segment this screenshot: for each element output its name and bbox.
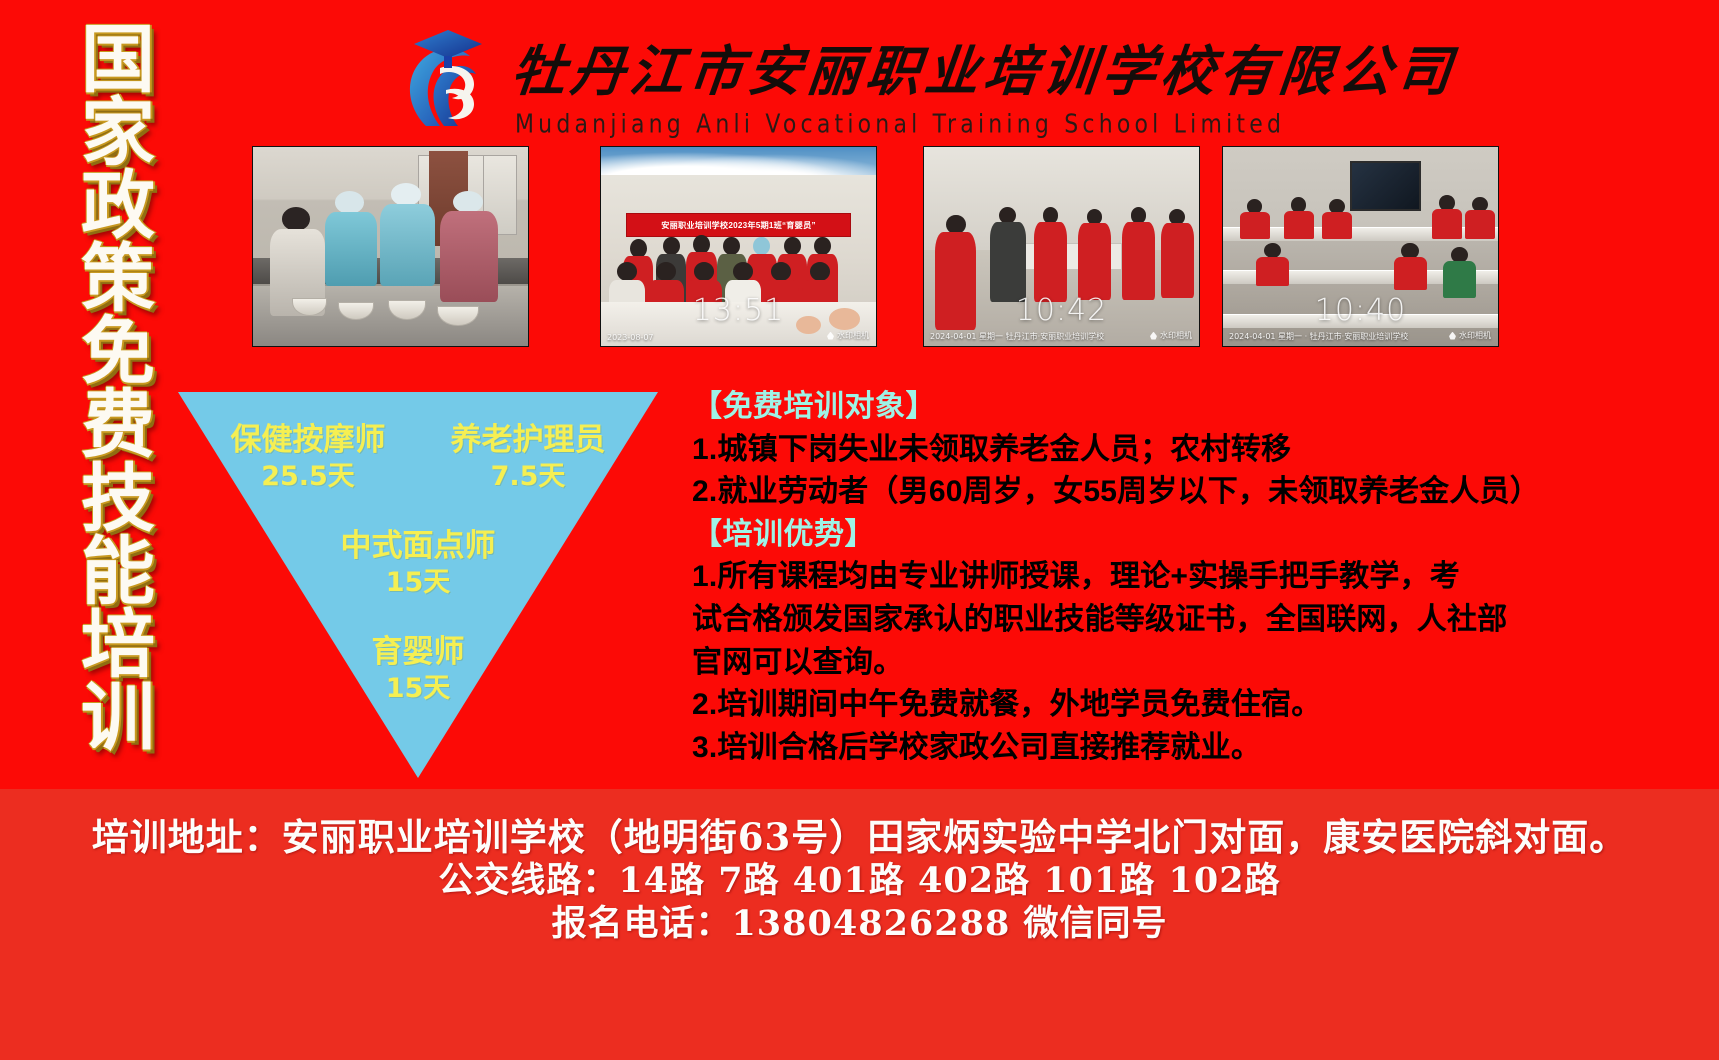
- water-drop-icon: [827, 332, 834, 340]
- person-figure: [1240, 199, 1270, 239]
- photo-timestamp: 10:40: [1223, 293, 1498, 328]
- headline-char: 能: [81, 538, 155, 606]
- person-figure: [1465, 197, 1495, 239]
- watermark-text: 水印相机: [837, 330, 869, 341]
- brand-name-chinese: 牡丹江市安丽职业培训学校有限公司: [509, 44, 1459, 98]
- course-name: 中式面点师: [268, 530, 568, 563]
- info-line: 2.就业劳动者（男60周岁，女55周岁以下，未领取养老金人员）: [692, 471, 1702, 514]
- water-drop-icon: [1150, 332, 1157, 340]
- headline-char: 家: [81, 99, 155, 167]
- watermark-camera-label: 水印相机: [1449, 330, 1491, 341]
- course-days: 7.5天: [428, 463, 628, 491]
- headline-char: 策: [81, 245, 155, 313]
- person-figure: [1284, 197, 1314, 239]
- person-figure: [1034, 207, 1067, 303]
- vertical-headline: 国 家 政 策 免 费 技 能 培 训: [62, 26, 174, 752]
- photo-date: 2023-08-07: [607, 333, 654, 342]
- info-column: 【免费培训对象】 1.城镇下岗失业未领取养老金人员；农村转移 2.就业劳动者（男…: [692, 386, 1702, 769]
- headline-char: 国: [81, 26, 155, 94]
- water-drop-icon: [1449, 332, 1456, 340]
- course-item: 养老护理员 7.5天: [428, 424, 628, 491]
- info-line: 1.城镇下岗失业未领取养老金人员；农村转移: [692, 429, 1702, 472]
- poster-canvas: 国 家 政 策 免 费 技 能 培 训: [0, 0, 1719, 1060]
- photo-date: 2024-04-01 星期一 · 牡丹江市·安丽职业培训学校: [1229, 331, 1408, 342]
- person-figure: [1078, 209, 1111, 301]
- person-figure: [440, 191, 498, 302]
- course-days: 25.5天: [208, 463, 408, 491]
- headline-char: 技: [81, 465, 155, 533]
- brand-name-english: Mudanjiang Anli Vocational Training Scho…: [515, 110, 1285, 140]
- headline-char: 政: [81, 172, 155, 240]
- footer-phone: 报名电话：13804826288 微信同号: [0, 903, 1719, 946]
- headline-char: 费: [81, 391, 155, 459]
- person-figure: [1432, 195, 1462, 239]
- projector-screen-shape: [1350, 161, 1422, 211]
- brand-header: 牡丹江市安丽职业培训学校有限公司 Mudanjiang Anli Vocatio…: [352, 14, 1312, 138]
- person-figure: [1122, 207, 1155, 301]
- info-line: 3.培训合格后学校家政公司直接推荐就业。: [692, 727, 1702, 770]
- course-days: 15天: [306, 675, 530, 703]
- course-row-3: 育婴师 15天: [306, 636, 530, 703]
- person-figure: [380, 183, 435, 286]
- course-name: 育婴师: [306, 636, 530, 669]
- headline-char: 训: [81, 684, 155, 752]
- person-figure: [1443, 247, 1476, 299]
- footer-bus-routes: 公交线路：14路 7路 401路 402路 101路 102路: [0, 860, 1719, 903]
- watermark-camera-label: 水印相机: [1150, 330, 1192, 341]
- footer-address: 培训地址：安丽职业培训学校（地明街63号）田家炳实验中学北门对面，康安医院斜对面…: [0, 815, 1719, 860]
- headline-char: 免: [81, 318, 155, 386]
- headline-char: 培: [81, 611, 155, 679]
- person-figure: [1256, 243, 1289, 287]
- person-figure: [1322, 199, 1352, 239]
- course-item: 保健按摩师 25.5天: [208, 424, 408, 491]
- photo-elder-care-practice: 10:42 2024-04-01 星期一 牡丹江市·安丽职业培训学校 水印相机: [923, 146, 1200, 347]
- photo-group-baby-care-class: 安丽职业培训学校2023年5期1班“育婴员”: [600, 146, 877, 347]
- course-row-1: 保健按摩师 25.5天 养老护理员 7.5天: [208, 424, 628, 491]
- info-line: 试合格颁发国家承认的职业技能等级证书，全国联网，人社部: [692, 599, 1702, 642]
- course-name: 保健按摩师: [208, 424, 408, 457]
- info-line: 官网可以查询。: [692, 642, 1702, 685]
- section-heading-advantages: 【培训优势】: [692, 514, 1702, 557]
- watermark-text: 水印相机: [1160, 330, 1192, 341]
- photo-timestamp: 13:51: [601, 293, 876, 328]
- class-banner-text: 安丽职业培训学校2023年5期1班“育婴员”: [626, 213, 852, 237]
- section-heading-target: 【免费培训对象】: [692, 386, 1702, 429]
- photo-pastry-kitchen: [252, 146, 529, 347]
- watermark-camera-label: 水印相机: [827, 330, 869, 341]
- course-row-2: 中式面点师 15天: [268, 530, 568, 597]
- watermark-text: 水印相机: [1459, 330, 1491, 341]
- person-figure: [1394, 243, 1427, 291]
- info-line: 2.培训期间中午免费就餐，外地学员免费住宿。: [692, 684, 1702, 727]
- graduation-cap-logo-icon: [396, 28, 500, 132]
- course-triangle: 保健按摩师 25.5天 养老护理员 7.5天 中式面点师 15天 育婴师 15天: [178, 392, 658, 778]
- photo-classroom-lecture: 10:40 2024-04-01 星期一 · 牡丹江市·安丽职业培训学校 水印相…: [1222, 146, 1499, 347]
- person-figure: [325, 191, 377, 287]
- person-figure: [1161, 209, 1194, 299]
- photo-timestamp: 10:42: [924, 293, 1199, 328]
- course-name: 养老护理员: [428, 424, 628, 457]
- course-days: 15天: [268, 569, 568, 597]
- person-figure: [990, 207, 1026, 303]
- contact-footer: 培训地址：安丽职业培训学校（地明街63号）田家炳实验中学北门对面，康安医院斜对面…: [0, 789, 1719, 1060]
- info-line: 1.所有课程均由专业讲师授课，理论+实操手把手教学，考: [692, 556, 1702, 599]
- ceiling-sky-mural: [601, 147, 876, 175]
- photo-date: 2024-04-01 星期一 牡丹江市·安丽职业培训学校: [930, 331, 1104, 342]
